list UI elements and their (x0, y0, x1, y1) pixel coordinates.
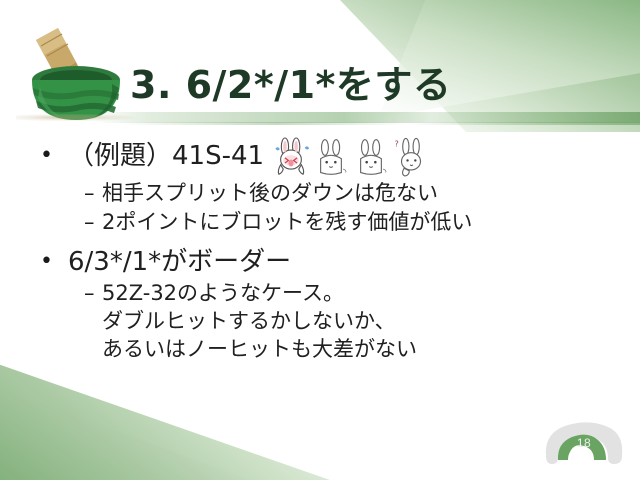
bullet-marker: • (40, 248, 68, 276)
title-divider-band (92, 112, 640, 123)
bullet-marker: – (84, 209, 102, 237)
page-title: 3. 6/2*/1*をする (130, 54, 451, 109)
bullet-level1: • （例題）41S-41 (40, 142, 264, 172)
page-number-badge: 18 (538, 416, 630, 474)
rabbit-shocked-icon (272, 136, 310, 178)
bullet-text: 相手スプリット後のダウンは危ない (102, 180, 438, 208)
content-body: • （例題）41S-41 (40, 136, 600, 364)
matcha-bowl-whisk-icon (14, 18, 138, 130)
svg-text:?: ? (395, 140, 399, 149)
bullet-marker: • (40, 142, 68, 170)
bowl-shadow (16, 114, 134, 121)
rabbit-plain-icon (312, 136, 350, 178)
bullet-level2: – 2ポイントにブロットを残す価値が低い (84, 209, 600, 237)
slide-canvas: 3. 6/2*/1*をする • （例題）41S-41 (0, 0, 640, 480)
bullet-marker: – (84, 280, 102, 308)
bullet-level2: – 相手スプリット後のダウンは危ない (84, 180, 600, 208)
bullet-text: 2ポイントにブロットを残す価値が低い (102, 209, 472, 237)
bullet-level1: • 6/3*/1*がボーダー (40, 248, 600, 278)
bullet-text: 52Z-32のようなケース。 ダブルヒットするかしないか、 あるいはノーヒットも… (102, 280, 417, 363)
page-number-text: 18 (538, 436, 630, 450)
rabbit-sticker-group: ? (272, 136, 430, 178)
rabbit-thinking-icon: ? (392, 136, 430, 178)
bullet-text: 6/3*/1*がボーダー (68, 248, 291, 278)
rabbit-plain-icon (352, 136, 390, 178)
title-divider-line (120, 122, 640, 125)
bottom-left-wedge-highlight (0, 362, 250, 480)
bullet-row-with-stickers: • （例題）41S-41 (40, 136, 600, 180)
bullet-marker: – (84, 180, 102, 208)
bullet-level2: – 52Z-32のようなケース。 ダブルヒットするかしないか、 あるいはノーヒッ… (84, 280, 600, 363)
bullet-text: （例題）41S-41 (68, 142, 264, 172)
